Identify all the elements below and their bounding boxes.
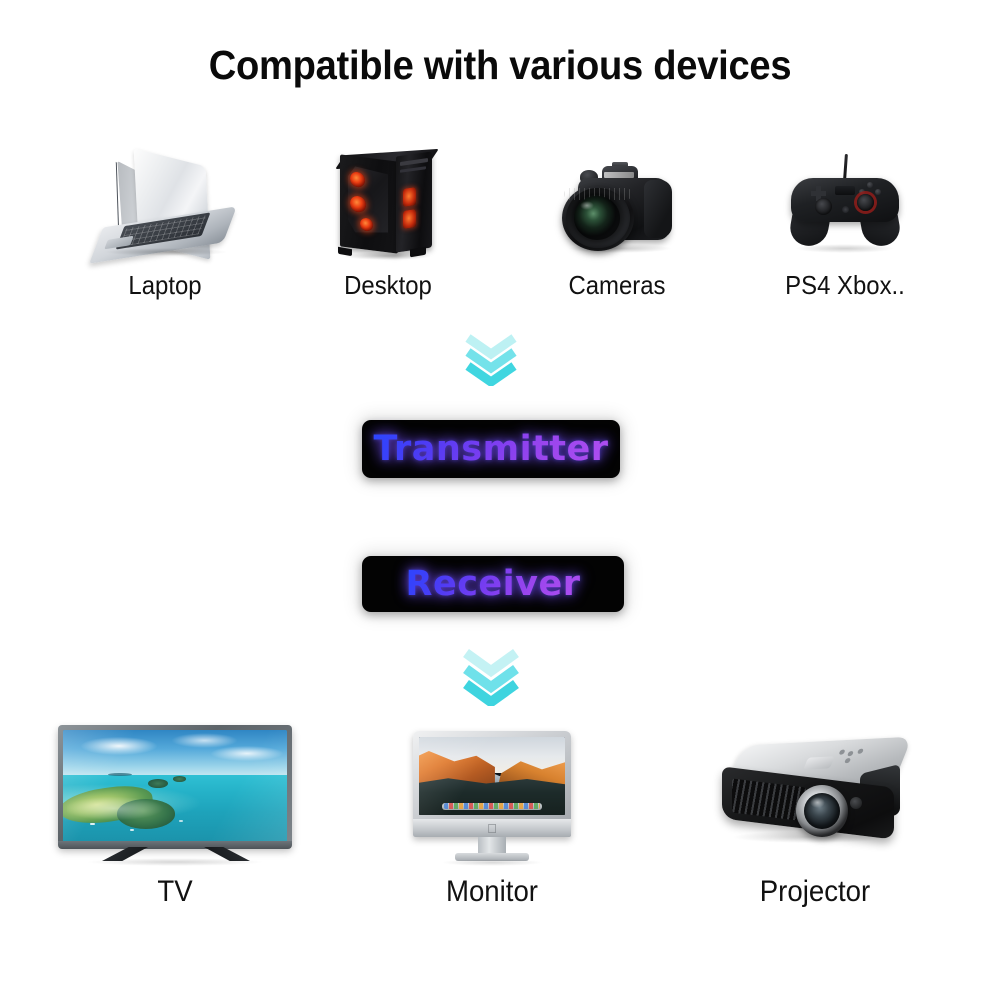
source-device-label: PS4 Xbox.. [762,270,928,301]
desktop-tower-image [298,150,478,270]
triple-chevron-down-icon-top [446,334,536,386]
output-device-label: Monitor [409,875,575,909]
transmitter-badge: Transmitter [362,420,620,478]
triple-chevron-down-icon-bottom [446,648,536,706]
source-device-cameras: Cameras [527,150,707,301]
laptop-image [75,150,255,270]
output-device-label: TV [67,875,282,909]
output-device-tv: TV [58,725,292,909]
apple-logo-icon:  [487,823,498,835]
infographic-canvas: Compatible with various devices Laptop [0,0,1000,1000]
receiver-badge: Receiver [362,556,624,612]
imac-monitor-image:  [402,725,582,875]
source-device-laptop: Laptop [75,150,255,301]
game-controller-image [755,150,935,270]
source-device-label: Cameras [534,270,700,301]
dslr-camera-image [527,150,707,270]
output-device-monitor:  Monitor [402,725,582,909]
output-device-label: Projector [718,875,911,909]
transmitter-label: Transmitter [373,429,608,469]
page-title: Compatible with various devices [35,42,965,89]
output-device-projector: Projector [710,725,920,909]
source-device-desktop: Desktop [298,150,478,301]
television-image [58,725,292,875]
projector-image [710,725,920,875]
source-device-label: Laptop [82,270,248,301]
receiver-label: Receiver [406,564,581,604]
source-device-label: Desktop [305,270,471,301]
source-device-consoles: PS4 Xbox.. [755,150,935,301]
